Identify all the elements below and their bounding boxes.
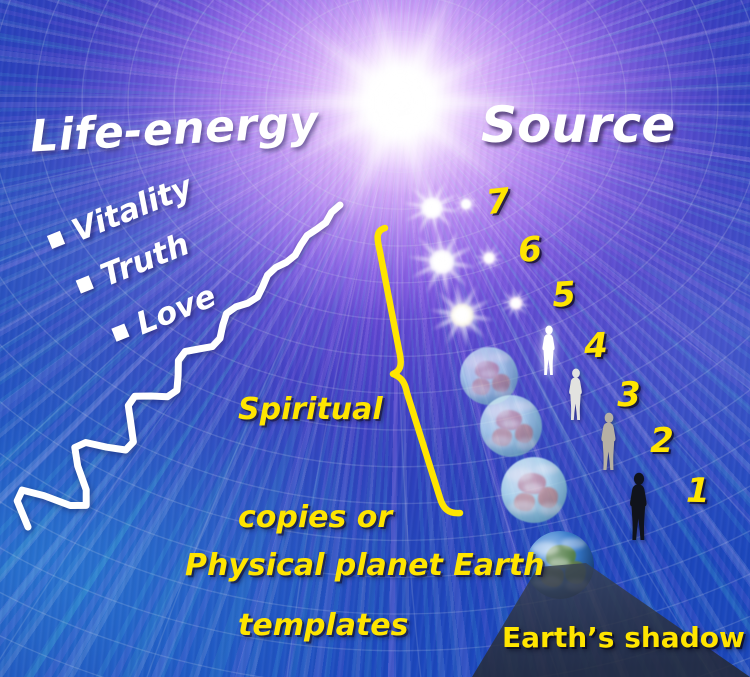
level-number-4: 4 — [583, 326, 608, 367]
caption-line-1: Spiritual — [238, 392, 409, 428]
human-figure-dark — [625, 472, 652, 540]
level-number-3: 3 — [617, 375, 642, 415]
page-title-source: Source — [481, 96, 675, 154]
level-number-6: 6 — [517, 229, 544, 271]
level-number-7: 7 — [484, 181, 512, 223]
illustration-canvas: Life-energy Source Vitality Truth Love S… — [0, 0, 750, 677]
level-number-1: 1 — [686, 471, 711, 511]
caption-line-2: copies or — [238, 500, 409, 536]
caption-physical-planet-earth: Physical planet Earth — [185, 548, 545, 583]
caption-line-3: templates — [238, 608, 409, 644]
human-figure-grey — [597, 412, 620, 470]
human-figure-white — [539, 325, 559, 375]
caption-earths-shadow: Earth’s shadow — [502, 621, 745, 654]
level-number-2: 2 — [650, 421, 674, 461]
caption-spiritual-copies: Spiritual copies or templates — [238, 320, 409, 677]
level-number-5: 5 — [551, 274, 577, 315]
human-figure-pale — [566, 368, 587, 420]
